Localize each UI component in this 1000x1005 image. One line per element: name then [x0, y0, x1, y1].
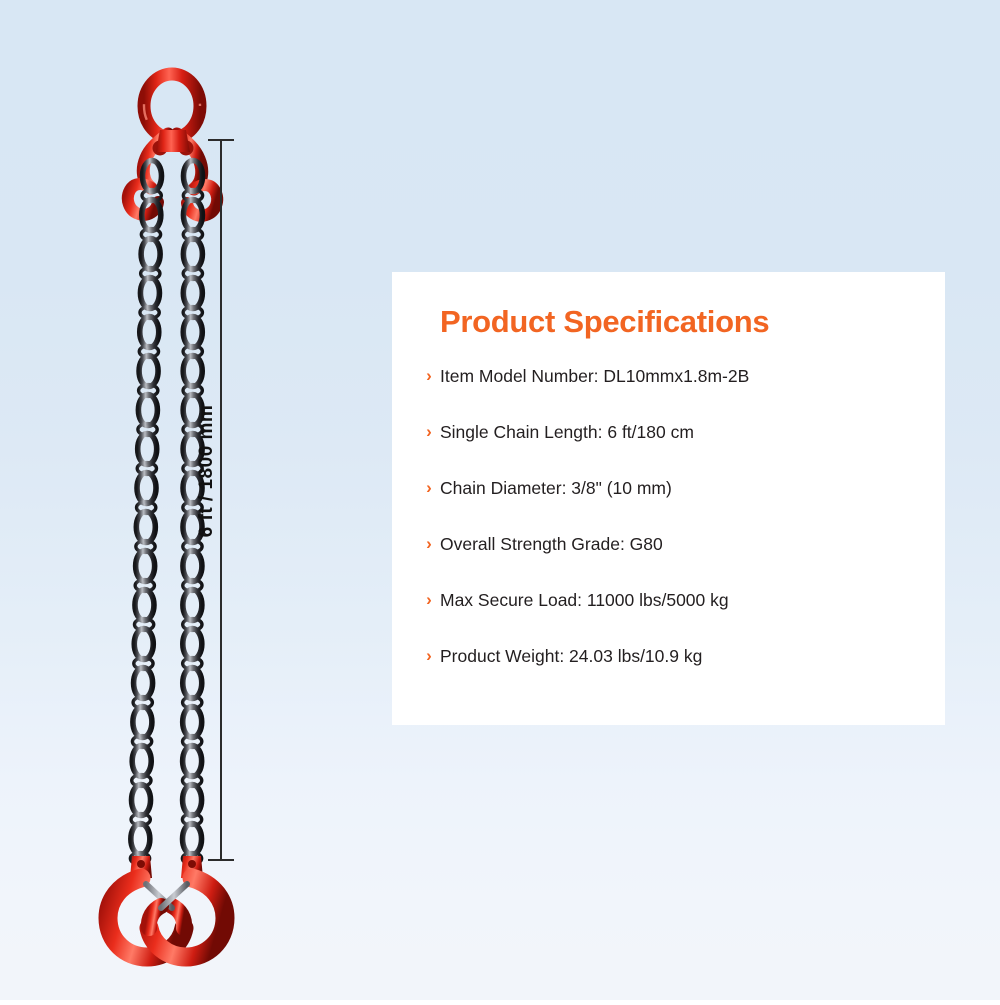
- spec-item: › Max Secure Load: 11000 lbs/5000 kg: [418, 589, 938, 645]
- spec-item: › Product Weight: 24.03 lbs/10.9 kg: [418, 645, 938, 701]
- dimension-annotation: 6 ft / 1800 mm: [188, 130, 258, 875]
- chevron-right-icon: ›: [418, 365, 440, 387]
- dimension-line: [220, 140, 222, 861]
- spec-item-label: Item Model Number: DL10mmx1.8m-2B: [440, 365, 749, 387]
- spec-item: › Item Model Number: DL10mmx1.8m-2B: [418, 365, 938, 421]
- spec-item-label: Product Weight: 24.03 lbs/10.9 kg: [440, 645, 702, 667]
- spec-item-label: Max Secure Load: 11000 lbs/5000 kg: [440, 589, 729, 611]
- dimension-tick-bottom: [208, 859, 234, 861]
- specifications-panel: Product Specifications › Item Model Numb…: [392, 272, 945, 725]
- dimension-label: 6 ft / 1800 mm: [196, 326, 218, 616]
- master-link-icon: [144, 74, 200, 138]
- chain-left-links: [130, 161, 161, 865]
- chevron-right-icon: ›: [418, 645, 440, 667]
- product-image: [0, 0, 340, 1000]
- spec-item: › Chain Diameter: 3/8" (10 mm): [418, 477, 938, 533]
- spec-item-label: Overall Strength Grade: G80: [440, 533, 663, 555]
- chevron-right-icon: ›: [418, 533, 440, 555]
- spec-item: › Overall Strength Grade: G80: [418, 533, 938, 589]
- chevron-right-icon: ›: [418, 589, 440, 611]
- chevron-right-icon: ›: [418, 477, 440, 499]
- spec-item: › Single Chain Length: 6 ft/180 cm: [418, 421, 938, 477]
- panel-title: Product Specifications: [440, 304, 769, 340]
- specifications-list: › Item Model Number: DL10mmx1.8m-2B › Si…: [418, 365, 938, 701]
- chevron-right-icon: ›: [418, 421, 440, 443]
- product-infographic: 6 ft / 1800 mm Product Specifications › …: [0, 0, 1000, 1000]
- spec-item-label: Single Chain Length: 6 ft/180 cm: [440, 421, 694, 443]
- spec-item-label: Chain Diameter: 3/8" (10 mm): [440, 477, 672, 499]
